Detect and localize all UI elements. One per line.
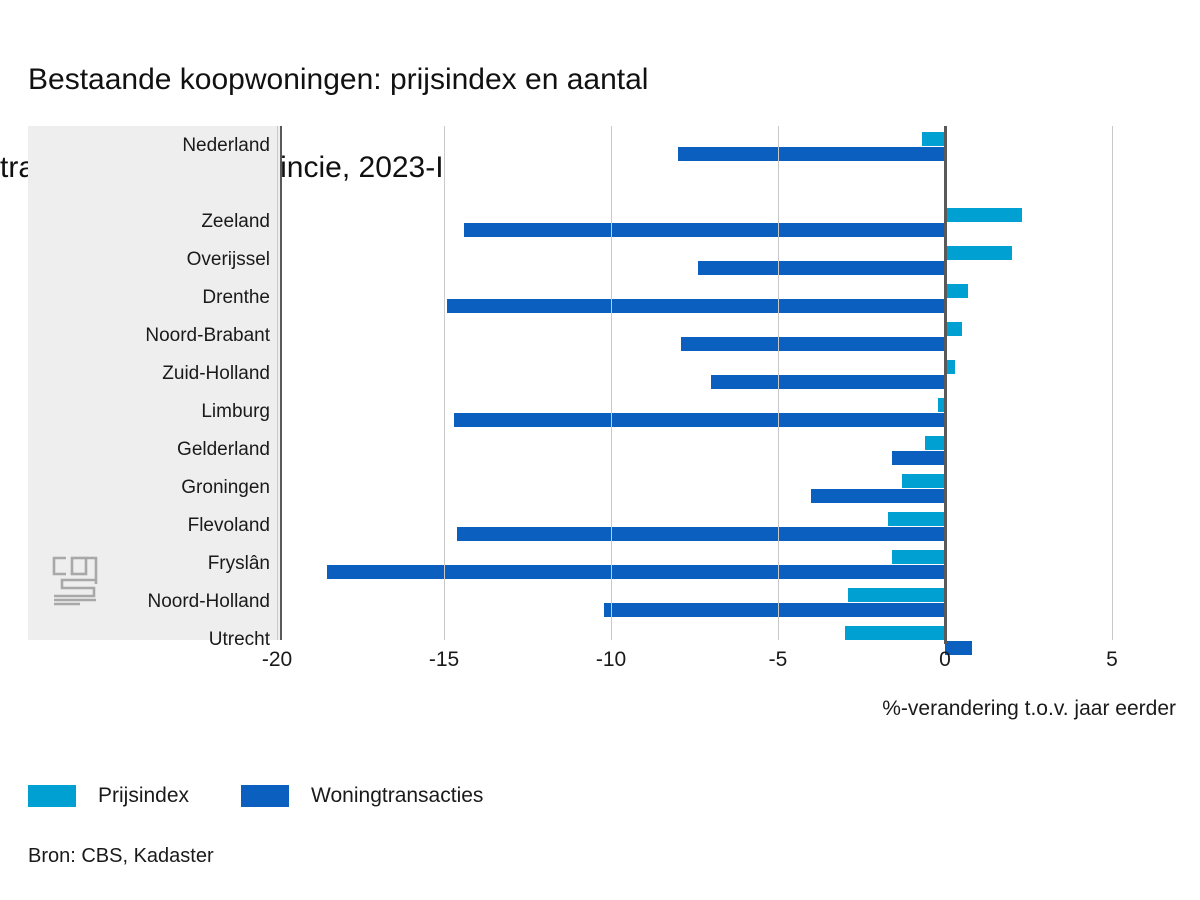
chart-plot-area: NederlandZeelandOverijsselDrentheNoord-B… <box>28 126 1150 640</box>
category-label: Groningen <box>28 469 270 507</box>
category-label: Zuid-Holland <box>28 355 270 393</box>
page-title-line-1: Bestaande koopwoningen: prijsindex en aa… <box>28 58 1180 102</box>
chart-row: Drenthe <box>28 279 1150 317</box>
legend-swatch-icon <box>241 785 289 807</box>
gridline--5 <box>778 126 779 640</box>
bar-prijsindex <box>945 246 1012 260</box>
bar-woningtransacties <box>698 261 945 275</box>
gridline--10 <box>611 126 612 640</box>
category-label: Flevoland <box>28 507 270 545</box>
bar-woningtransacties <box>678 147 945 161</box>
legend-swatch-icon <box>28 785 76 807</box>
chart-row <box>28 165 1150 203</box>
category-label: Nederland <box>28 127 270 165</box>
category-label: Drenthe <box>28 279 270 317</box>
bar-woningtransacties <box>681 337 945 351</box>
chart-row: Zeeland <box>28 203 1150 241</box>
legend-label: Prijsindex <box>98 784 189 808</box>
chart-row: Zuid-Holland <box>28 355 1150 393</box>
bar-prijsindex <box>902 474 945 488</box>
x-axis-ticks: -20-15-10-505 <box>28 648 1178 682</box>
chart-row: Overijssel <box>28 241 1150 279</box>
bar-prijsindex <box>845 626 945 640</box>
chart-row: Gelderland <box>28 431 1150 469</box>
bar-woningtransacties <box>892 451 945 465</box>
x-tick-label: -20 <box>262 648 292 672</box>
bar-woningtransacties <box>457 527 945 541</box>
chart-row: Noord-Holland <box>28 583 1150 621</box>
source-note: Bron: CBS, Kadaster <box>28 845 214 868</box>
chart-legend: PrijsindexWoningtransacties <box>28 782 535 810</box>
gridline-5 <box>1112 126 1113 640</box>
category-label: Zeeland <box>28 203 270 241</box>
zero-axis-line <box>944 126 947 644</box>
bar-woningtransacties <box>464 223 945 237</box>
bar-woningtransacties <box>454 413 945 427</box>
category-label: Overijssel <box>28 241 270 279</box>
category-label: Limburg <box>28 393 270 431</box>
bar-prijsindex <box>922 132 945 146</box>
bar-woningtransacties <box>711 375 945 389</box>
bar-prijsindex <box>945 322 962 336</box>
bar-rows: NederlandZeelandOverijsselDrentheNoord-B… <box>28 126 1150 640</box>
bar-woningtransacties <box>811 489 945 503</box>
bar-prijsindex <box>945 284 968 298</box>
legend-item-1[interactable]: Prijsindex <box>28 784 189 808</box>
x-axis-title: %-verandering t.o.v. jaar eerder <box>0 697 1176 721</box>
category-label: Fryslân <box>28 545 270 583</box>
category-label: Gelderland <box>28 431 270 469</box>
chart-row: Noord-Brabant <box>28 317 1150 355</box>
x-tick-label: -10 <box>596 648 626 672</box>
category-label: Noord-Brabant <box>28 317 270 355</box>
category-label <box>28 165 270 203</box>
category-label: Noord-Holland <box>28 583 270 621</box>
bar-prijsindex <box>925 436 945 450</box>
bar-prijsindex <box>945 360 955 374</box>
bar-woningtransacties <box>447 299 945 313</box>
bar-prijsindex <box>892 550 945 564</box>
chart-row: Flevoland <box>28 507 1150 545</box>
bar-woningtransacties <box>327 565 945 579</box>
chart-row: Limburg <box>28 393 1150 431</box>
category-axis-line <box>280 126 282 640</box>
legend-item-2[interactable]: Woningtransacties <box>241 784 483 808</box>
chart-row: Groningen <box>28 469 1150 507</box>
legend-label: Woningtransacties <box>311 784 483 808</box>
gridline--20 <box>277 126 278 640</box>
x-tick-label: 5 <box>1106 648 1118 672</box>
bar-prijsindex <box>945 208 1022 222</box>
chart-row: Nederland <box>28 127 1150 165</box>
x-tick-label: -5 <box>769 648 788 672</box>
bar-prijsindex <box>888 512 945 526</box>
x-tick-label: -15 <box>429 648 459 672</box>
chart-row: Fryslân <box>28 545 1150 583</box>
bar-prijsindex <box>848 588 945 602</box>
x-tick-label: 0 <box>939 648 951 672</box>
gridline--15 <box>444 126 445 640</box>
bar-woningtransacties <box>604 603 945 617</box>
